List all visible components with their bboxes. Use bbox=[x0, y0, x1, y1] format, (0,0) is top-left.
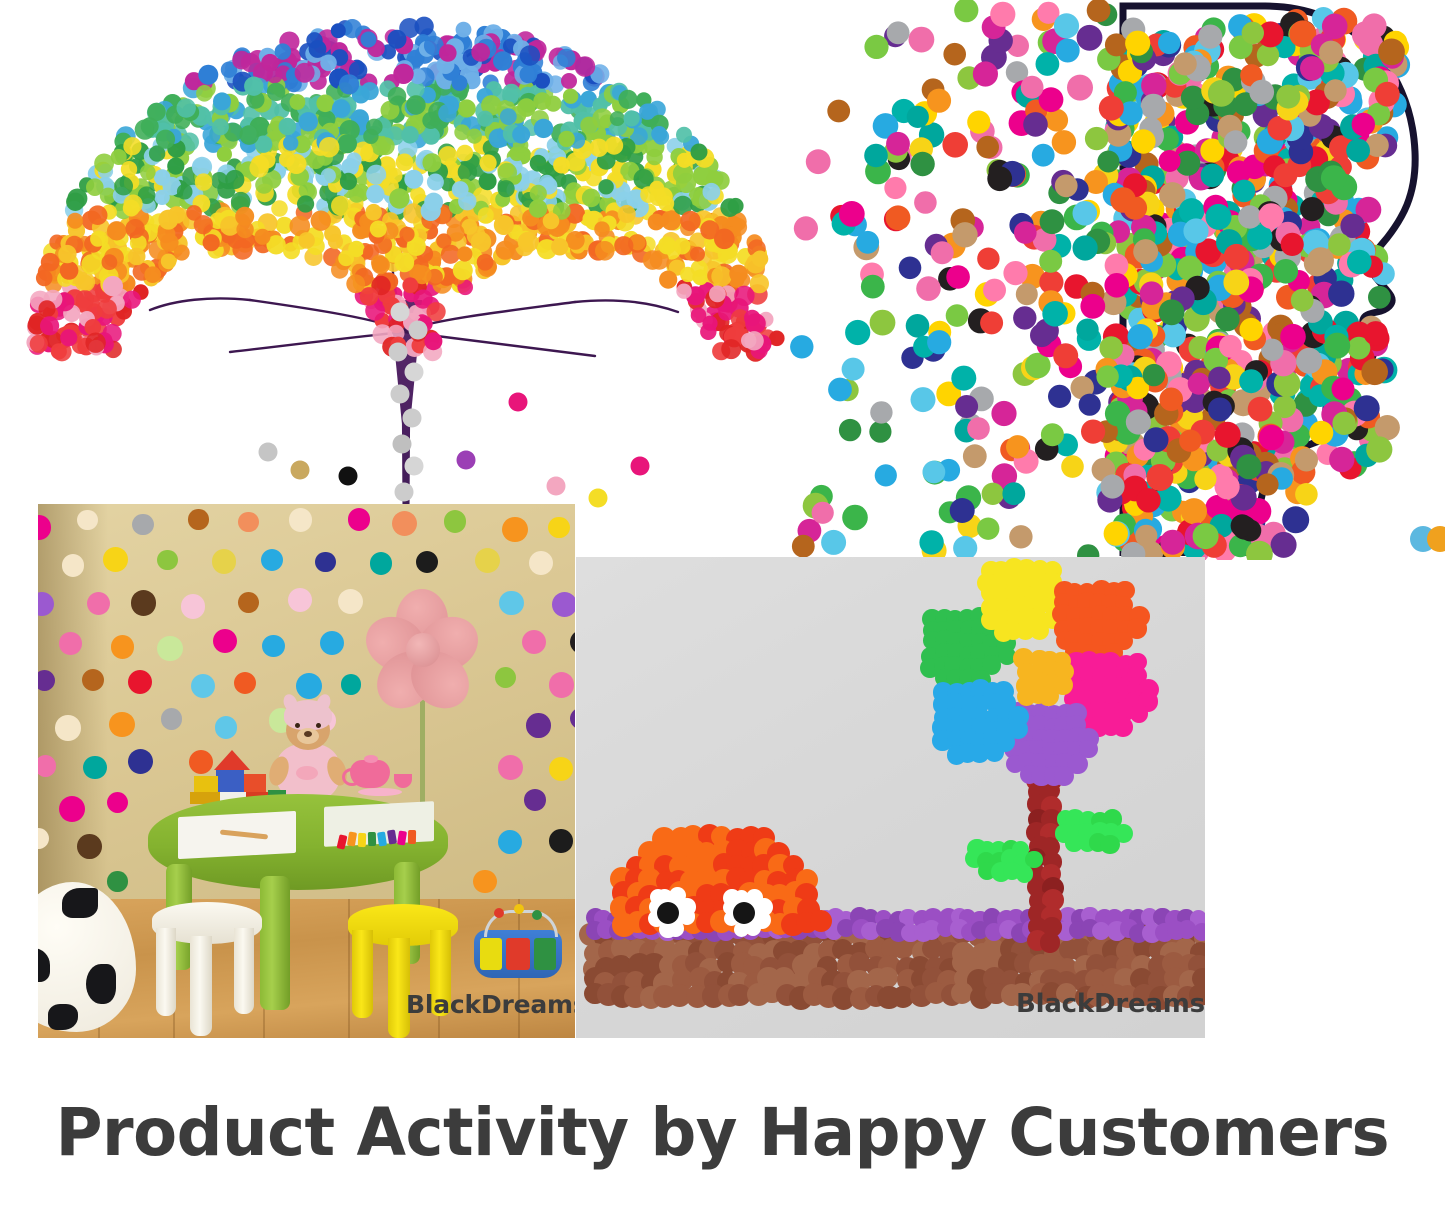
craft-eye-pupil bbox=[657, 902, 679, 924]
crayon bbox=[368, 832, 376, 846]
wall-dot bbox=[289, 508, 313, 532]
wall-dot bbox=[128, 749, 153, 774]
wall-dot bbox=[131, 590, 157, 616]
crayon bbox=[387, 830, 397, 845]
craft-dot bbox=[1100, 835, 1120, 855]
wall-dot bbox=[109, 712, 135, 738]
wall-dot bbox=[157, 550, 178, 571]
wall-dot bbox=[111, 635, 135, 659]
wall-dot bbox=[296, 673, 322, 699]
crayon bbox=[397, 830, 407, 845]
caption-text: Product Activity by Happy Customers bbox=[56, 1094, 1389, 1171]
crayons bbox=[338, 830, 418, 846]
wall-dot bbox=[549, 757, 573, 781]
panel-dot-tree bbox=[0, 0, 800, 520]
wall-dot bbox=[473, 870, 496, 893]
wall-dot bbox=[191, 674, 215, 698]
crayon bbox=[408, 830, 416, 844]
wall-dot bbox=[38, 755, 56, 776]
panel-dot-head: BlackDreams bbox=[790, 0, 1445, 560]
craft-dot bbox=[1113, 717, 1132, 736]
wall-dot bbox=[55, 715, 80, 740]
craft-dot bbox=[985, 743, 1004, 762]
wall-dot bbox=[524, 789, 546, 811]
wall-dot bbox=[499, 591, 523, 615]
panel-dot-craft: BlackDreams bbox=[576, 557, 1205, 1038]
wall-dot bbox=[315, 552, 335, 572]
wall-dot bbox=[370, 552, 393, 575]
watermark-playroom: BlackDreams bbox=[406, 990, 575, 1019]
craft-dot bbox=[1016, 865, 1034, 883]
wall-dot bbox=[498, 755, 523, 780]
wall-dot bbox=[107, 871, 127, 891]
craft-eye-pupil bbox=[733, 902, 755, 924]
craft-dot bbox=[1038, 686, 1058, 706]
wall-dot bbox=[444, 510, 467, 533]
wall-dot bbox=[552, 592, 575, 617]
crayon bbox=[347, 831, 357, 846]
page-caption: Product Activity by Happy Customers bbox=[0, 1082, 1445, 1182]
wall-dot bbox=[213, 629, 237, 653]
activity-toy bbox=[474, 904, 562, 978]
wall-dot bbox=[82, 669, 104, 691]
craft-dot bbox=[1193, 923, 1205, 941]
panel-playroom-photo: BlackDreams bbox=[38, 504, 575, 1038]
wall-dot bbox=[107, 792, 128, 813]
tree-canopy bbox=[0, 0, 800, 520]
wall-dot bbox=[549, 672, 574, 697]
wall-dot bbox=[181, 594, 205, 618]
wall-dot bbox=[341, 674, 362, 695]
wall-dot bbox=[103, 547, 128, 572]
wall-dot bbox=[62, 554, 85, 577]
craft-dot bbox=[1040, 932, 1061, 953]
wall-dot bbox=[157, 636, 183, 662]
wall-dot bbox=[188, 509, 208, 529]
wall-dot bbox=[549, 829, 573, 853]
wall-dot bbox=[338, 589, 363, 614]
crayon bbox=[377, 832, 387, 847]
product-collage: BlackDreams bbox=[0, 0, 1445, 1227]
wall-dot bbox=[215, 716, 238, 739]
wall-dot bbox=[548, 517, 569, 538]
wall-dot bbox=[59, 632, 82, 655]
wall-dot bbox=[77, 834, 102, 859]
wall-dot bbox=[502, 517, 527, 542]
wall-dot bbox=[132, 514, 154, 536]
watermark-craft: BlackDreams bbox=[1016, 989, 1205, 1019]
crayon bbox=[358, 833, 367, 847]
wall-dot bbox=[526, 713, 550, 737]
craft-dot bbox=[1130, 704, 1148, 722]
wall-dot bbox=[83, 756, 106, 779]
wall-dot bbox=[348, 508, 370, 530]
wall-dot bbox=[59, 796, 85, 822]
craft-dot bbox=[1030, 621, 1049, 640]
wall-dot bbox=[87, 592, 110, 615]
wall-dot bbox=[320, 631, 344, 655]
head-dot-field bbox=[790, 0, 1445, 560]
